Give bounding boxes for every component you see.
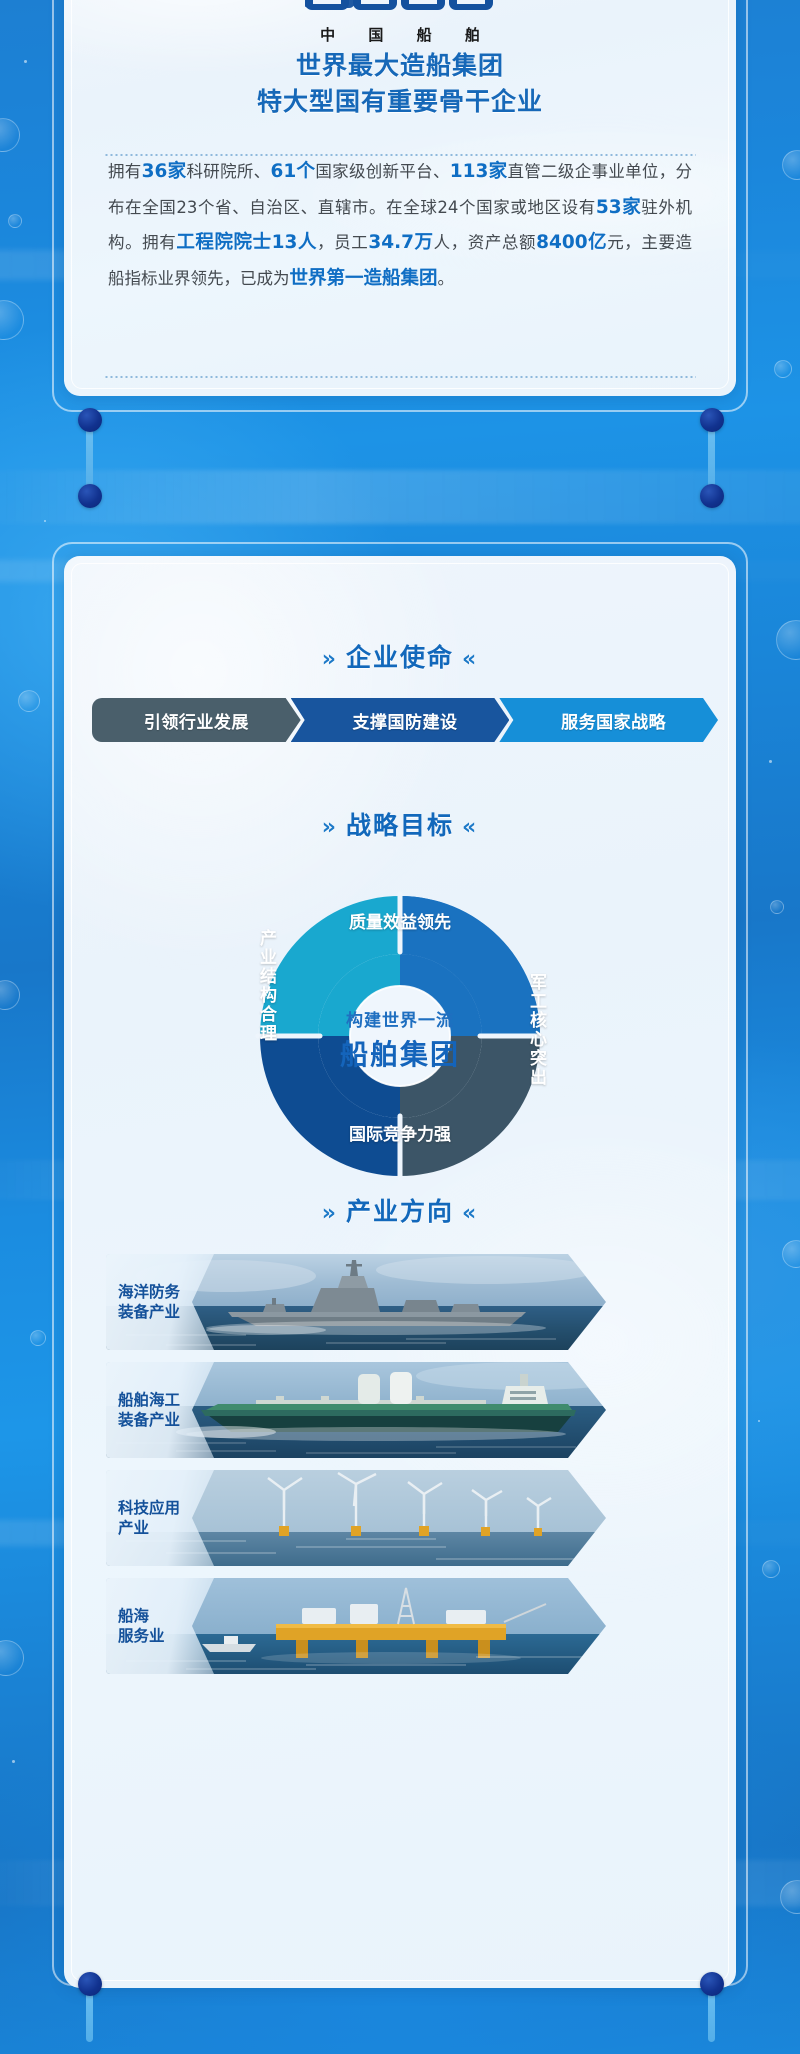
hero-line-2: 特大型国有重要骨干企业: [94, 84, 706, 120]
connector-dot: [78, 1972, 102, 1996]
intro-highlight: 工程院院士13人: [176, 232, 317, 253]
main-card: »企业使命« 引领行业发展支撑国防建设服务国家战略 »战略目标«: [64, 556, 736, 1988]
section-heading-strategy: »战略目标«: [64, 806, 736, 842]
pinwheel-label-structure: 产业结构合理: [254, 929, 279, 1043]
intro-highlight: 53家: [596, 197, 641, 218]
pinwheel-center-top: 构建世界一流: [300, 1006, 500, 1031]
chevron-right-icon: «: [462, 1201, 478, 1226]
mission-chip[interactable]: 服务国家战略: [499, 698, 718, 742]
industry-banner-services[interactable]: 船海服务业: [106, 1578, 606, 1674]
intro-paragraph: 拥有36家科研院所、61个国家级创新平台、113家直管二级企事业单位，分布在全国…: [108, 154, 692, 296]
section-title-industry: 产业方向: [346, 1197, 454, 1226]
industry-banner-defense[interactable]: 海洋防务装备产业: [106, 1254, 606, 1350]
bubble-icon: [8, 214, 22, 228]
intro-highlight: 34.7万: [368, 232, 433, 253]
industry-label-line2: 产业: [118, 1519, 149, 1537]
sparkle-icon: [758, 1420, 760, 1422]
intro-text: 科研院所、: [186, 162, 270, 181]
mission-chip[interactable]: 支撑国防建设: [291, 698, 510, 742]
intro-highlight: 36家: [142, 161, 187, 182]
industry-label-line1: 海洋防务: [118, 1283, 180, 1301]
sparkle-icon: [24, 60, 27, 63]
intro-text: 国家级创新平台、: [315, 162, 449, 181]
industry-label-line2: 装备产业: [118, 1411, 180, 1429]
section-heading-industry: »产业方向«: [64, 1192, 736, 1228]
sparkle-icon: [12, 1760, 15, 1763]
pinwheel-label-quality: 质量效益领先: [293, 908, 507, 933]
intro-text: 人，资产总额: [434, 233, 536, 252]
intro-highlight: 61个: [270, 161, 315, 182]
pinwheel-label-competitive: 国际竞争力强: [293, 1120, 507, 1145]
industry-label-line1: 船舶海工: [118, 1391, 180, 1409]
bubble-icon: [18, 690, 40, 712]
intro-text: ，员工: [317, 233, 368, 252]
connector-dot: [700, 408, 724, 432]
strategy-pinwheel-chart: 质量效益领先 军工核心突出 国际竞争力强 产业结构合理 构建世界一流 船舶集团: [175, 866, 625, 1206]
industry-label-line2: 装备产业: [118, 1303, 180, 1321]
sparkle-icon: [44, 520, 46, 522]
intro-text: 拥有: [108, 162, 142, 181]
connector-dot: [700, 484, 724, 508]
profile-card: 中 国 船 舶 世界最大造船集团 特大型国有重要骨干企业 拥有36家科研院所、6…: [64, 0, 736, 396]
page-title: 世界最大造船集团 特大型国有重要骨干企业: [94, 48, 706, 119]
connector-dot: [78, 484, 102, 508]
chevron-right-icon: «: [462, 647, 478, 672]
bubble-icon: [762, 1560, 780, 1578]
industry-banner-marine[interactable]: 船舶海工装备产业: [106, 1362, 606, 1458]
pinwheel-center-main: 船舶集团: [300, 1033, 500, 1073]
connector-dot: [700, 1972, 724, 1996]
cssc-logo-icon: [305, 0, 495, 14]
hero-line-1: 世界最大造船集团: [94, 48, 706, 84]
chevron-left-icon: »: [322, 815, 338, 840]
mission-chip[interactable]: 引领行业发展: [92, 698, 301, 742]
background-band: [0, 470, 800, 524]
bubble-icon: [30, 1330, 46, 1346]
section-title-strategy: 战略目标: [346, 811, 454, 840]
sparkle-icon: [769, 760, 772, 763]
chevron-left-icon: »: [322, 647, 338, 672]
intro-text: 。: [438, 269, 455, 288]
divider-bottom: [104, 376, 696, 378]
mission-chip-row: 引领行业发展支撑国防建设服务国家战略: [92, 698, 708, 742]
intro-highlight: 世界第一造船集团: [290, 268, 438, 289]
bubble-icon: [770, 900, 784, 914]
industry-banner-tech[interactable]: 科技应用产业: [106, 1470, 606, 1566]
chevron-left-icon: »: [322, 1201, 338, 1226]
brand-logo-subtitle: 中 国 船 舶: [64, 24, 736, 45]
section-title-mission: 企业使命: [346, 643, 454, 672]
mission-chip-label: 服务国家战略: [561, 708, 666, 733]
connector-dot: [78, 408, 102, 432]
intro-highlight: 8400亿: [536, 232, 607, 253]
mission-chip-label: 引领行业发展: [144, 708, 249, 733]
section-heading-mission: »企业使命«: [64, 638, 736, 674]
industry-label-line1: 科技应用: [118, 1499, 180, 1517]
brand-logo: 中 国 船 舶: [64, 0, 736, 45]
mission-chip-label: 支撑国防建设: [353, 708, 458, 733]
bubble-icon: [774, 360, 792, 378]
industry-label-line2: 服务业: [118, 1627, 165, 1645]
pinwheel-center-text: 构建世界一流 船舶集团: [300, 1006, 500, 1073]
industry-label-line1: 船海: [118, 1607, 149, 1625]
chevron-right-icon: «: [462, 815, 478, 840]
pinwheel-label-military: 军工核心突出: [524, 973, 549, 1087]
intro-highlight: 113家: [450, 161, 508, 182]
